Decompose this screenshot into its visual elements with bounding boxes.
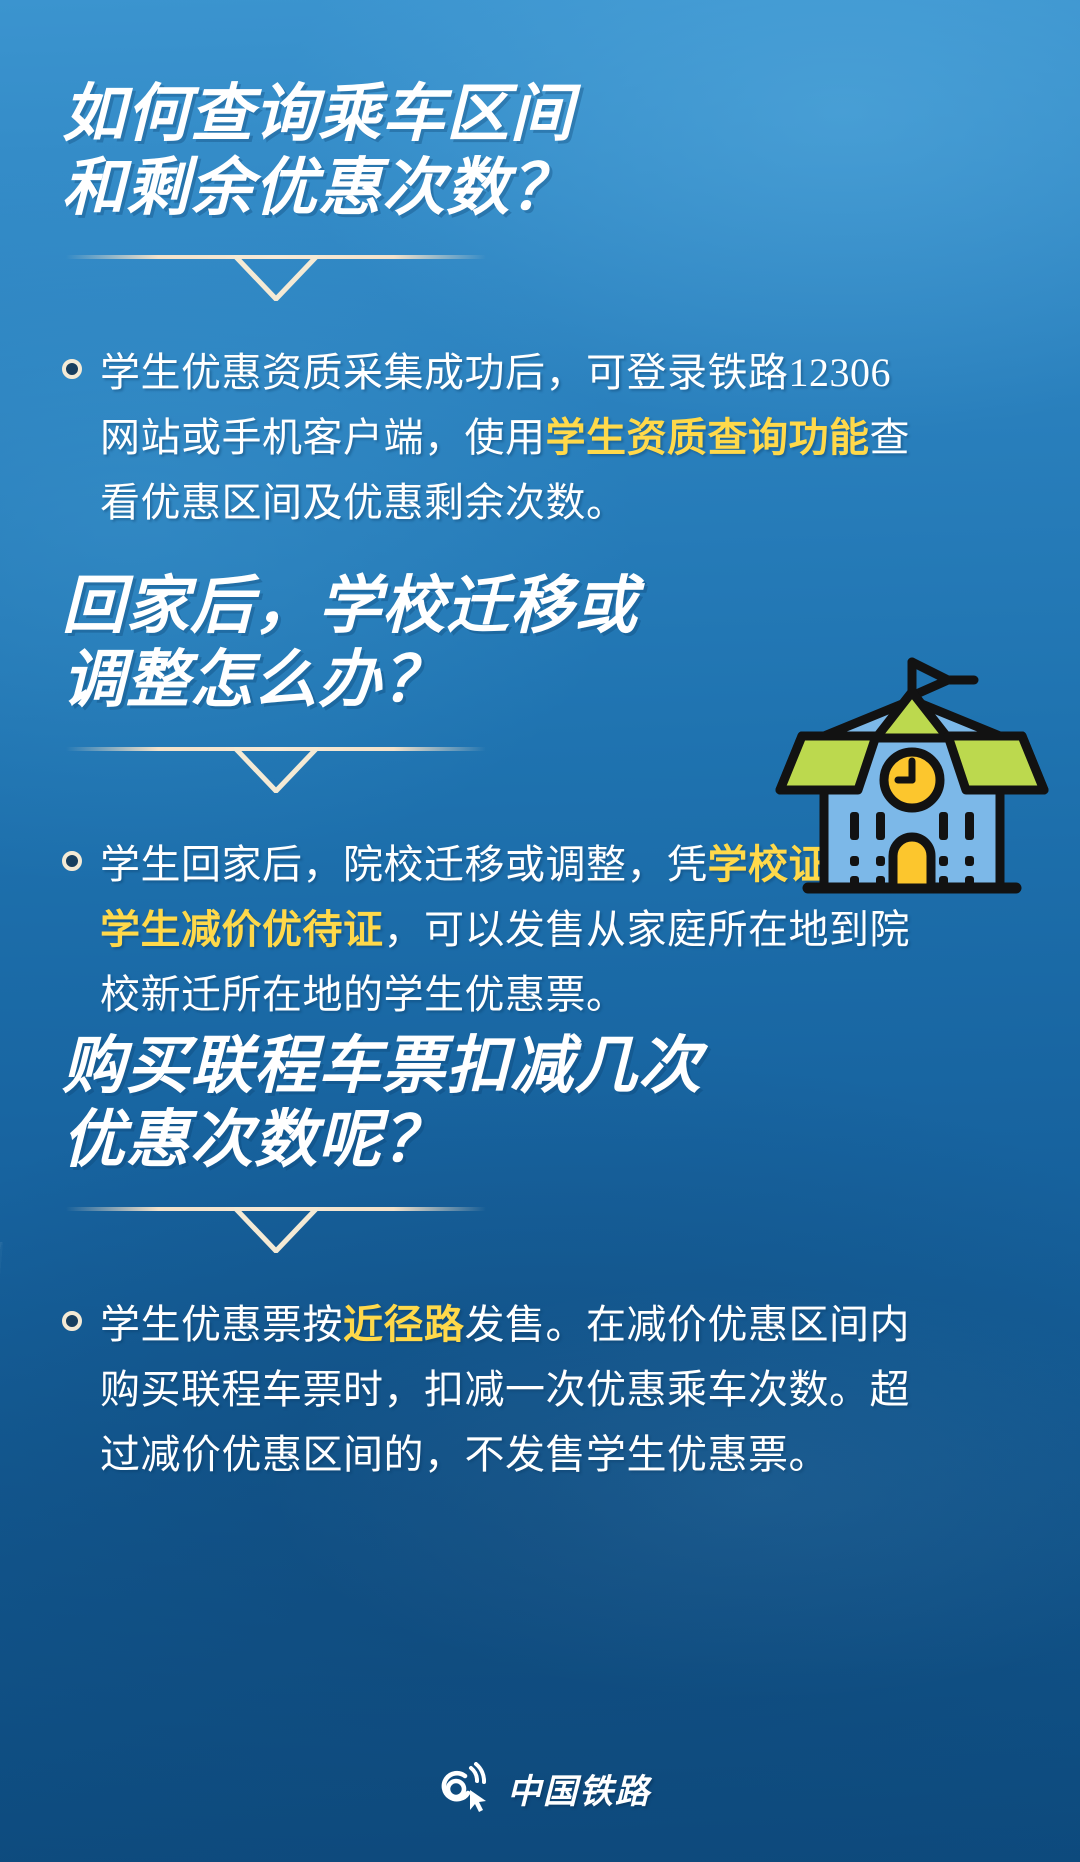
section-1-paragraph: 学生优惠资质采集成功后，可登录铁路12306网站或手机客户端，使用学生资质查询功… [62, 341, 1022, 535]
section-1-divider [66, 247, 486, 307]
section-3-divider [66, 1199, 486, 1259]
body-highlight: 学生资质查询功能 [546, 415, 870, 460]
at-wifi-cursor-icon [429, 1762, 493, 1814]
bullet-marker [62, 1311, 82, 1331]
section-2-divider [66, 739, 486, 799]
bullet-marker [62, 851, 82, 871]
body-highlight: 近径路 [343, 1302, 465, 1347]
brand-name: 中国铁路 [507, 1764, 651, 1813]
section-1-heading: 如何查询乘车区间 和剩余优惠次数？ [62, 78, 1022, 225]
body-run: 学生优惠票按 [100, 1302, 343, 1347]
section-3-paragraph: 学生优惠票按近径路发售。在减价优惠区间内购买联程车票时，扣减一次优惠乘车次数。超… [62, 1293, 1022, 1487]
chevron-down-icon [234, 747, 318, 793]
chevron-down-icon [234, 1207, 318, 1253]
school-building-icon [762, 640, 1062, 910]
section-query-interval: 如何查询乘车区间 和剩余优惠次数？ 学生优惠资质采集成功后，可登录铁路12306… [62, 78, 1022, 536]
section-through-ticket: 购买联程车票扣减几次 优惠次数呢？ 学生优惠票按近径路发售。在减价优惠区间内购买… [62, 1030, 1022, 1488]
body-run: 学生回家后，院校迁移或调整，凭 [100, 842, 708, 887]
body-highlight: 学生减价优待证 [100, 907, 384, 952]
section-3-heading: 购买联程车票扣减几次 优惠次数呢？ [62, 1030, 1022, 1177]
chevron-down-icon [234, 255, 318, 301]
section-1-body: 学生优惠资质采集成功后，可登录铁路12306网站或手机客户端，使用学生资质查询功… [100, 341, 930, 535]
school-door [893, 837, 931, 888]
footer-logo: 中国铁路 [0, 1762, 1080, 1814]
section-3-body: 学生优惠票按近径路发售。在减价优惠区间内购买联程车票时，扣减一次优惠乘车次数。超… [100, 1293, 930, 1487]
bullet-marker [62, 359, 82, 379]
